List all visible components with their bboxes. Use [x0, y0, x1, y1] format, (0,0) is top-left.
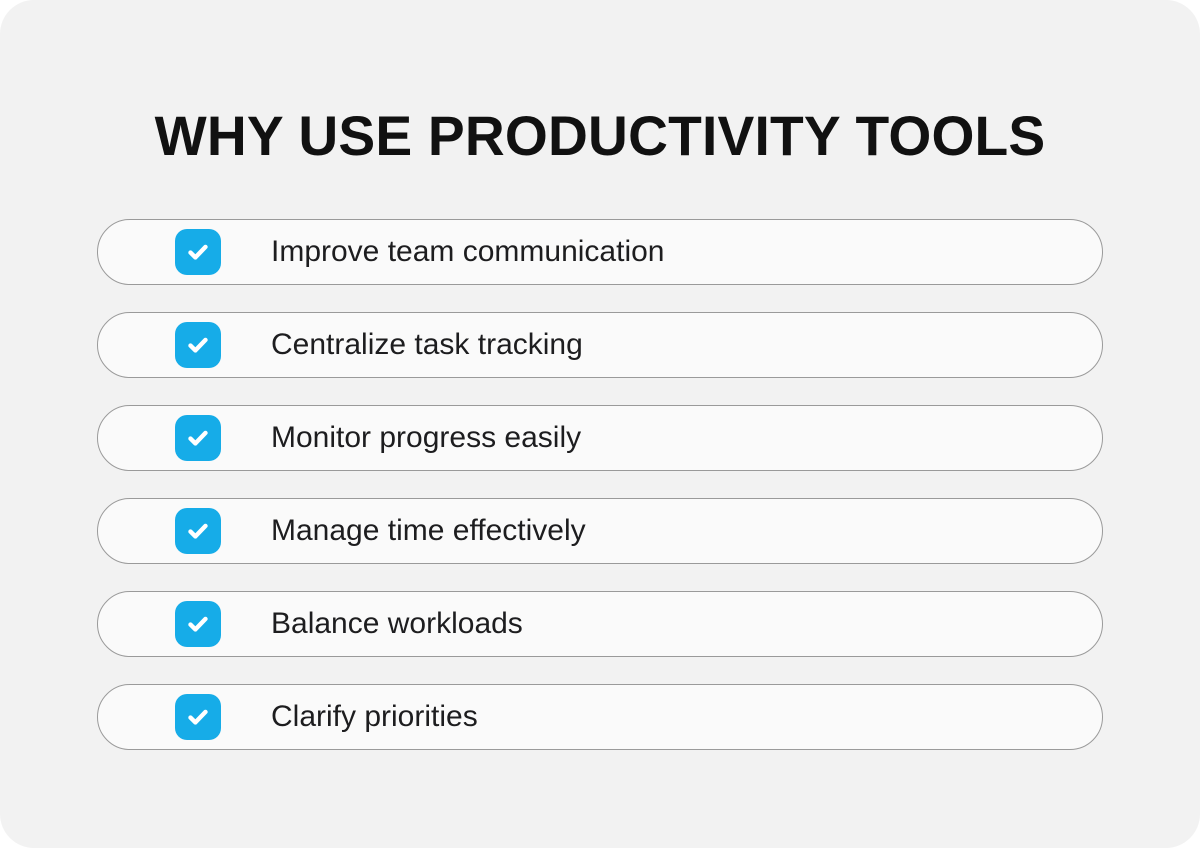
list-item-label: Manage time effectively: [271, 514, 586, 548]
checkbox-checked[interactable]: [175, 694, 221, 740]
list-item[interactable]: Monitor progress easily: [97, 405, 1103, 471]
checkbox-checked[interactable]: [175, 508, 221, 554]
infographic-card: WHY USE PRODUCTIVITY TOOLS Improve team …: [0, 0, 1200, 848]
list-item-label: Monitor progress easily: [271, 421, 581, 455]
list-item-label: Clarify priorities: [271, 700, 478, 734]
list-item[interactable]: Clarify priorities: [97, 684, 1103, 750]
checkbox-checked[interactable]: [175, 601, 221, 647]
list-item-label: Centralize task tracking: [271, 328, 583, 362]
benefits-checklist: Improve team communication Centralize ta…: [97, 219, 1103, 750]
list-item[interactable]: Manage time effectively: [97, 498, 1103, 564]
list-item-label: Improve team communication: [271, 235, 665, 269]
checkbox-checked[interactable]: [175, 229, 221, 275]
list-item[interactable]: Centralize task tracking: [97, 312, 1103, 378]
list-item[interactable]: Improve team communication: [97, 219, 1103, 285]
list-item-label: Balance workloads: [271, 607, 523, 641]
checkbox-checked[interactable]: [175, 415, 221, 461]
page-title: WHY USE PRODUCTIVITY TOOLS: [9, 104, 1191, 168]
list-item[interactable]: Balance workloads: [97, 591, 1103, 657]
checkbox-checked[interactable]: [175, 322, 221, 368]
